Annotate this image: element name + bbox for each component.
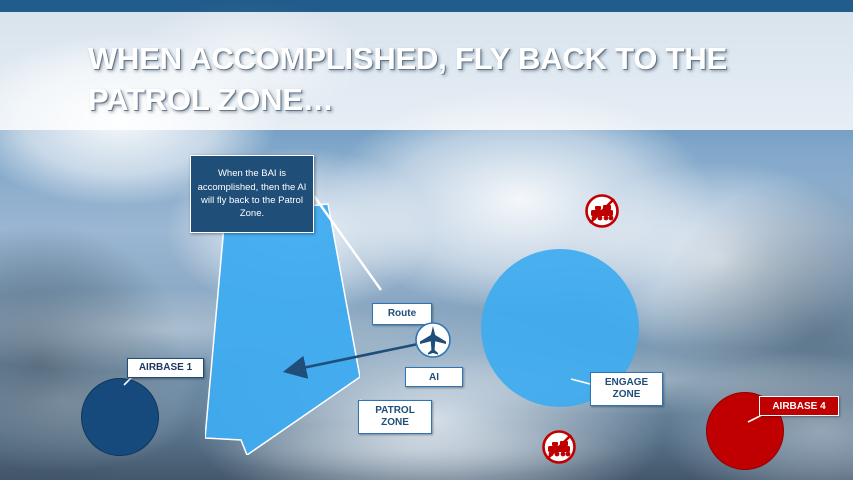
airbase-1-label: AIRBASE 1 xyxy=(127,358,204,378)
engage-zone-label: ENGAGE ZONE xyxy=(590,372,663,406)
airbase-1-circle xyxy=(81,378,159,456)
slide-canvas: WHEN ACCOMPLISHED, FLY BACK TO THE PATRO… xyxy=(0,0,853,480)
patrol-zone-label: PATROL ZONE xyxy=(358,400,432,434)
instruction-callout-text: When the BAI is accomplished, then the A… xyxy=(195,167,309,221)
title-band: WHEN ACCOMPLISHED, FLY BACK TO THE PATRO… xyxy=(0,12,853,130)
ground-unit-marker-south xyxy=(541,429,577,465)
title-accent-bar xyxy=(0,0,853,12)
instruction-callout: When the BAI is accomplished, then the A… xyxy=(190,155,314,233)
airbase-4-label: AIRBASE 4 xyxy=(759,396,839,416)
ground-unit-marker-north xyxy=(584,193,620,229)
jet-icon xyxy=(414,321,452,359)
page-title: WHEN ACCOMPLISHED, FLY BACK TO THE PATRO… xyxy=(88,38,788,120)
ai-aircraft-label: AI xyxy=(405,367,463,387)
